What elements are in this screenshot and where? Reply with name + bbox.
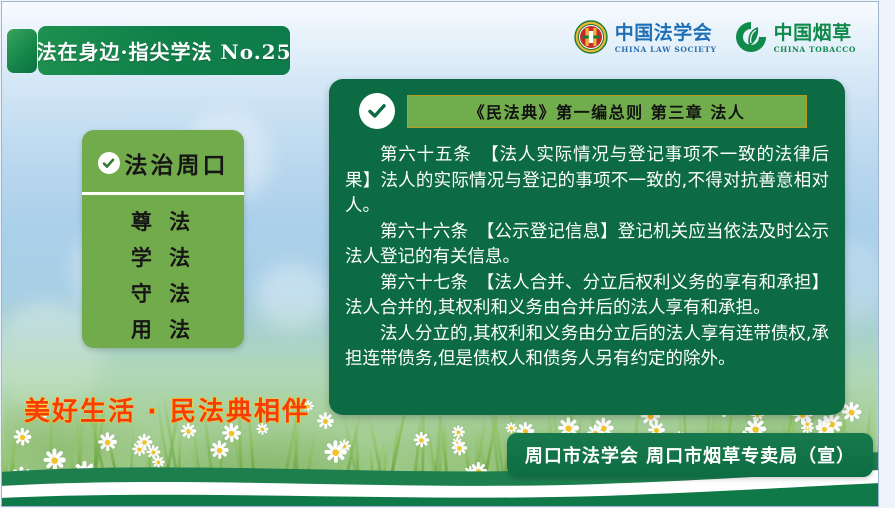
law-paragraph: 第六十六条 【公示登记信息】登记机关应当依法及时公示法人登记的有关信息。: [345, 220, 829, 271]
footer-text: 周口市法学会 周口市烟草专卖局（宣）: [525, 442, 855, 468]
check-circle-icon: [359, 93, 395, 129]
logo-cn-text: 中国烟草: [774, 24, 856, 43]
daisy-center: [19, 435, 24, 440]
chapter-title-bar: 《民法典》第一编总则 第三章 法人: [407, 95, 807, 128]
slide-frame: 法在身边·指尖学法 No.25 中国法学会: [1, 1, 879, 507]
law-article-text: 第六十五条 【法人实际情况与登记事项不一致的法律后果】法人的实际情况与登记的事项…: [345, 143, 829, 373]
list-item: 用 法: [131, 313, 195, 347]
daisy-center: [848, 409, 854, 415]
left-panel-heading: 法治周口: [125, 146, 229, 180]
list-item: 尊 法: [131, 205, 195, 239]
organization-footer-bar: 周口市法学会 周口市烟草专卖局（宣）: [507, 433, 873, 477]
tobacco-leaf-emblem-icon: [735, 21, 767, 57]
fazhi-zhoukou-panel: 法治周口 尊 法 学 法 守 法 用 法: [82, 130, 244, 348]
check-circle-icon: [98, 152, 120, 174]
daisy-center: [752, 426, 758, 432]
daisy-center: [456, 430, 460, 434]
daisy-flower: [318, 414, 332, 428]
list-item: 学 法: [131, 241, 195, 275]
left-panel-items: 尊 法 学 法 守 法 用 法: [131, 195, 195, 347]
daisy-flower: [507, 424, 516, 433]
page-title: 法在身边·指尖学法 No.25: [37, 36, 292, 65]
slide-canvas: 法在身边·指尖学法 No.25 中国法学会: [0, 0, 895, 508]
left-panel-heading-row: 法治周口: [98, 130, 229, 192]
tobacco-wordmark: 中国烟草 CHINA TOBACCO: [774, 24, 856, 54]
daisy-center: [228, 430, 234, 436]
daisy-center: [186, 429, 191, 434]
logo-group: 中国法学会 CHINA LAW SOCIETY 中国烟草 CHINA TOBAC…: [574, 20, 856, 58]
china-tobacco-logo: 中国烟草 CHINA TOBACCO: [735, 21, 856, 57]
chapter-title: 《民法典》第一编总则 第三章 法人: [469, 99, 746, 123]
china-law-society-logo: 中国法学会 CHINA LAW SOCIETY: [574, 20, 717, 58]
law-content-panel: 《民法典》第一编总则 第三章 法人 第六十五条 【法人实际情况与登记事项不一致的…: [329, 79, 845, 415]
daisy-center: [821, 427, 826, 432]
daisy-center: [260, 428, 264, 432]
law-paragraph: 法人分立的,其权利和义务由分立后的法人享有连带债权,承担连带债务,但是债权人和债…: [345, 322, 829, 373]
daisy-center: [322, 418, 327, 423]
daisy-center: [510, 427, 513, 430]
law-society-wordmark: 中国法学会 CHINA LAW SOCIETY: [615, 24, 717, 54]
daisy-flower: [843, 404, 859, 420]
law-society-emblem-icon: [574, 20, 608, 58]
header-title-bar: 法在身边·指尖学法 No.25: [38, 26, 290, 75]
law-paragraph: 第六十七条 【法人合并、分立后权利义务的享有和承担】法人合并的,其权利和义务由合…: [345, 271, 829, 322]
chapter-header-row: 《民法典》第一编总则 第三章 法人: [345, 93, 829, 129]
logo-en-text: CHINA TOBACCO: [774, 46, 856, 54]
list-item: 守 法: [131, 277, 195, 311]
logo-en-text: CHINA LAW SOCIETY: [615, 46, 717, 54]
header-accent-tab: [7, 29, 37, 73]
logo-cn-text: 中国法学会: [615, 24, 717, 43]
daisy-center: [565, 425, 571, 431]
daisy-flower: [452, 427, 463, 438]
slogan-text: 美好生活 · 民法典相伴: [24, 391, 310, 428]
law-paragraph: 第六十五条 【法人实际情况与登记事项不一致的法律后果】法人的实际情况与登记的事项…: [345, 143, 829, 220]
